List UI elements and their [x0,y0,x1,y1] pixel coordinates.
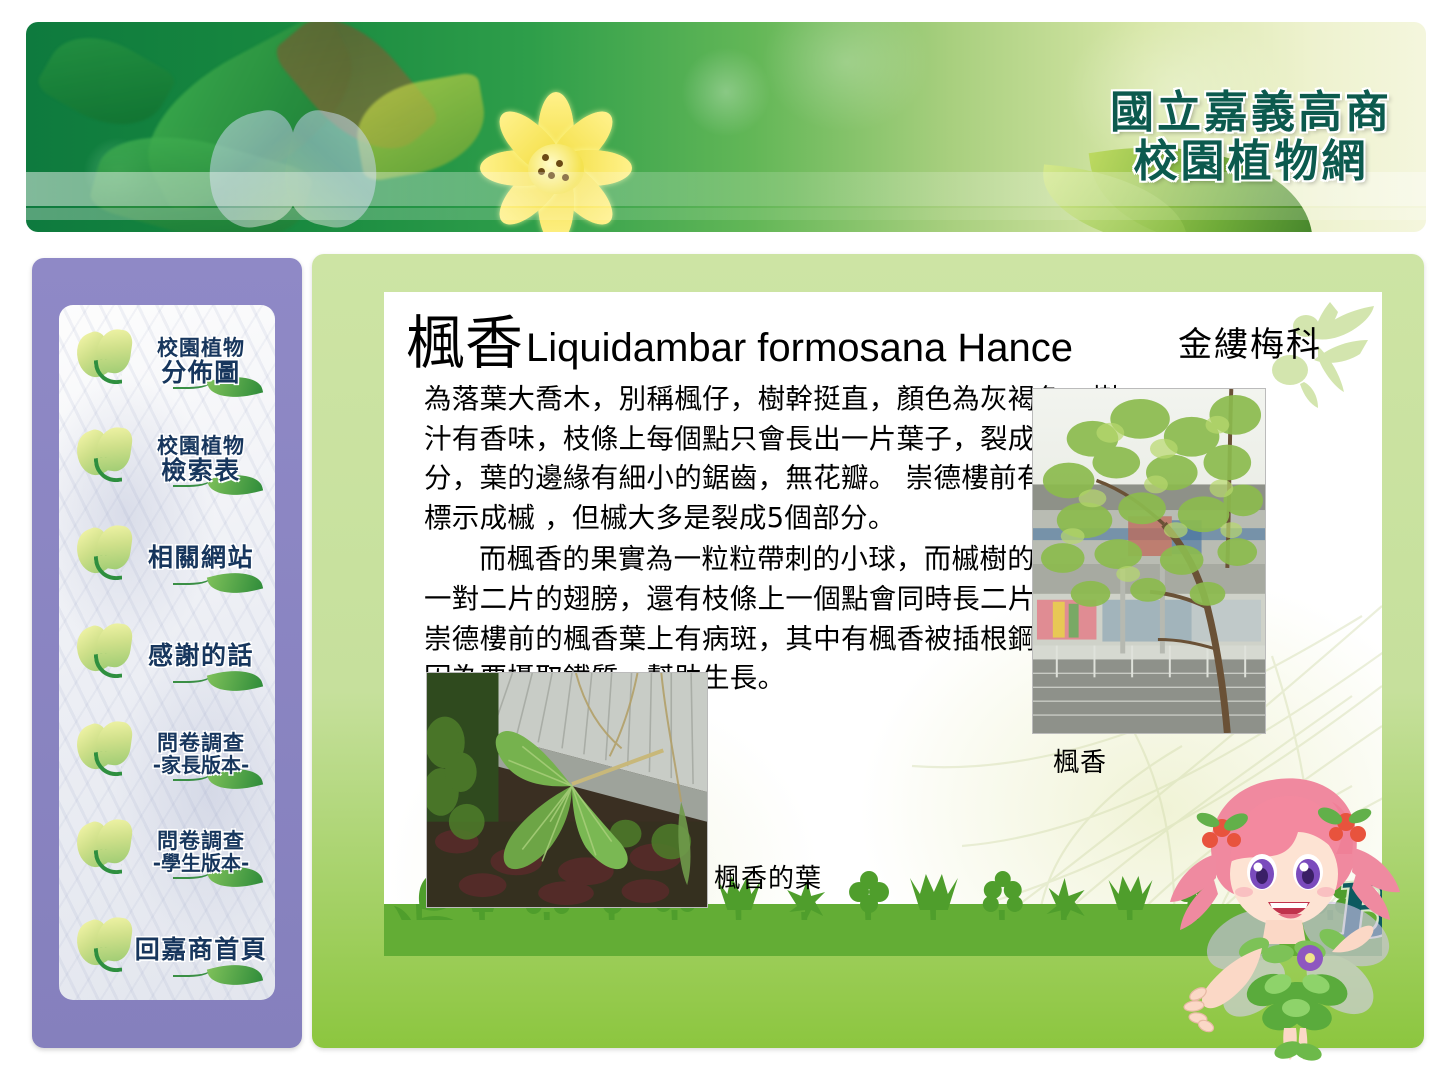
sidebar-item-survey-parent[interactable]: 問卷調查 -家長版本- [59,705,275,803]
site-header-banner: 國立嘉義高商 校園植物網 [26,22,1426,232]
sidebar-item-label-line2: 回嘉商首頁 [131,937,271,963]
fairy-mascot-icon [1150,762,1420,1062]
sidebar-item-label-line2: 分佈圖 [131,360,271,386]
sidebar-menu: 校園植物 分佈圖 校園植物 檢索表 [59,305,275,999]
page-root: 國立嘉義高商 校園植物網 校園植物 分佈圖 [0,0,1452,1090]
sidebar-panel: 校園植物 分佈圖 校園植物 檢索表 [59,305,275,1000]
sidebar-item-label-line1: 校園植物 [131,435,271,457]
caption-leaf: 楓香的葉 [714,858,822,895]
paragraph-1: 為落葉大喬木，別稱楓仔，樹幹挺直，顏色為灰褐色，樹汁有香味，枝條上每個點只會長出… [424,380,1132,538]
butterfly-leaf-icon [73,623,139,685]
butterfly-leaf-icon [73,427,139,489]
sidebar-item-label-line2: 相關網站 [131,545,271,571]
sidebar-item-related-websites[interactable]: 相關網站 [59,509,275,607]
site-title-line2: 校園植物網 [1110,137,1392,186]
sidebar-item-campus-plant-map[interactable]: 校園植物 分佈圖 [59,313,275,411]
site-title-line1: 國立嘉義高商 [1110,88,1392,137]
sidebar-item-label-line1: 問卷調查 [131,830,271,852]
sidebar-item-label-line2: 感謝的話 [131,643,271,669]
caption-tree: 楓香 [1053,742,1107,779]
sidebar-item-label-line2: 檢索表 [131,458,271,484]
sidebar-item-back-to-school-home[interactable]: 回嘉商首頁 [59,901,275,999]
photo-liquidambar-leaf [426,672,708,908]
banner-highlight-stripe [26,208,1426,220]
butterfly-leaf-icon [73,525,139,587]
sidebar-item-label-line1: 校園植物 [131,337,271,359]
plant-name-chinese: 楓香 [406,314,524,372]
sidebar-item-campus-plant-index[interactable]: 校園植物 檢索表 [59,411,275,509]
plant-family: 金縷梅科 [1178,317,1322,366]
article-title-row: 楓香 Liquidambar formosana Hance 金縷梅科 [384,292,1382,372]
butterfly-leaf-icon [73,917,139,979]
sidebar: 校園植物 分佈圖 校園植物 檢索表 [32,258,302,1048]
article-body: 為落葉大喬木，別稱楓仔，樹幹挺直，顏色為灰褐色，樹汁有香味，枝條上每個點只會長出… [424,380,1132,699]
butterfly-leaf-icon [73,819,139,881]
plant-name-scientific: Liquidambar formosana Hance [526,327,1073,369]
site-title: 國立嘉義高商 校園植物網 [1110,88,1392,187]
photo-liquidambar-tree [1032,388,1266,734]
sidebar-item-label-line1: 問卷調查 [131,732,271,754]
sidebar-item-label-line2: -家長版本- [131,755,271,776]
sidebar-item-label-line2: -學生版本- [131,853,271,874]
sidebar-item-survey-student[interactable]: 問卷調查 -學生版本- [59,803,275,901]
sidebar-item-acknowledgements[interactable]: 感謝的話 [59,607,275,705]
butterfly-leaf-icon [73,721,139,783]
butterfly-leaf-icon [73,329,139,391]
